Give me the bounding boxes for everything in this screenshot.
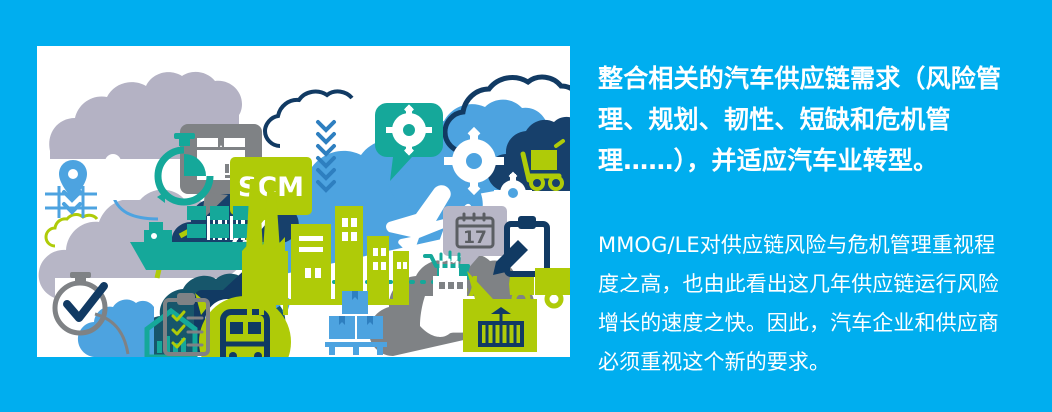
headline: 整合相关的汽车供应链需求（风险管理、规划、韧性、短缺和危机管理……），并适应汽车…	[598, 58, 1010, 181]
cloud-outline-small-icon	[265, 91, 352, 146]
checkmark-stopwatch-icon	[55, 272, 105, 333]
body-paragraph: MMOG/LE对供应链风险与危机管理重视程度之高，也由此看出这几年供应链运行风险…	[598, 226, 1010, 382]
illustration-panel: SCM	[37, 46, 570, 357]
calendar-day-label: 17	[463, 228, 487, 248]
supply-chain-infographic: SCM	[37, 46, 570, 357]
slide-root: SCM	[0, 0, 1052, 412]
text-column: 整合相关的汽车供应链需求（风险管理、规划、韧性、短缺和危机管理……），并适应汽车…	[598, 58, 1010, 368]
